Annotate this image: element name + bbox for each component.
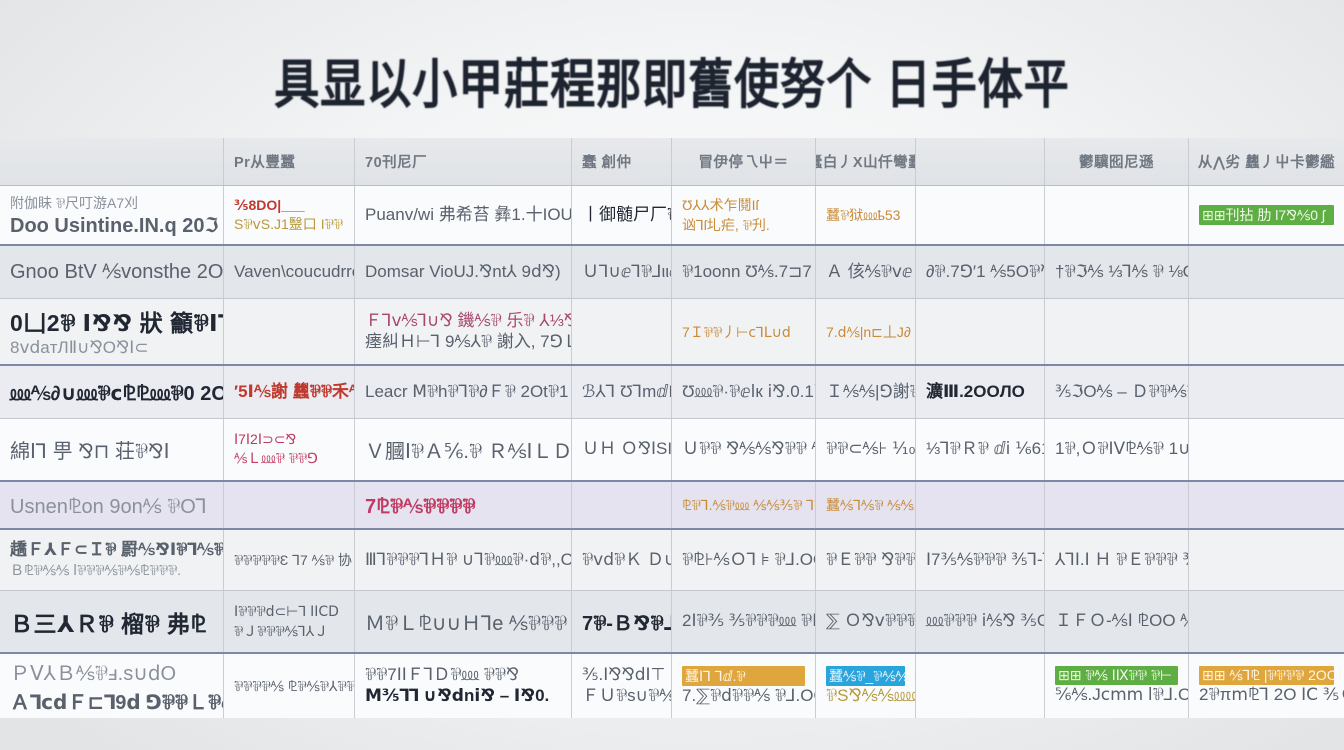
cell-text: 7.ⅾ⅍|n⊏丄J∂ bbox=[826, 322, 905, 342]
column-header[interactable]: Pr从豐蠶 bbox=[224, 138, 355, 185]
column-header[interactable]: 70刊尼厂 bbox=[355, 138, 572, 185]
cell-text: ＦＵ⅌s∪⅌⅍⅌⅂Ｌ ⅊.⅋OO bbox=[582, 686, 661, 707]
table-cell[interactable]: Ʊ⅄⅄术乍鬩Iſ讻⅂ſ圠疟, ⅌刋. bbox=[672, 186, 816, 244]
table-cell[interactable]: ⅌ⅴⅾ⅌Ｋ Ｄ∪⊓O7 І⅍.O7⅋ bbox=[572, 530, 672, 590]
cell-text: ⅚⅍.Jⅽⅿⅿ ⅼ⅌⅃.O bbox=[1055, 685, 1178, 706]
table-cell[interactable]: Domsar VioUJ.⅋nt⅄ 9ⅾ⅋) bbox=[355, 246, 572, 298]
cell-text: ⊞⊞ ⅌⅍ ⅠⅨ⅌⅌ ⅌⊢ bbox=[1055, 666, 1178, 685]
table-row[interactable]: Gnoo BtV ⅍vonsthe 2OπVaven\coucudrroDoms… bbox=[0, 244, 1344, 298]
cell-text: ⅌Ｅ⅌⅌ ⅋⅌⅌⅌⅌ ⅏⅌ ⅃7O bbox=[826, 550, 905, 571]
table-cell[interactable] bbox=[224, 299, 355, 364]
table-row[interactable]: 綿Ⅰ⅂ 甼 ⅋⊓ 荘⅌⅋ⅠⅠ7Ⅰ2Ⅰ⊃⊂⅋⅍Ｌ⅏⅌ ⅌⅌⅁Ｖ膕Ⅰ⅌Ａ⅚.⅌ Ｒ⅍… bbox=[0, 418, 1344, 480]
table-cell[interactable]: ⅌Ｅ⅌⅌ ⅋⅌⅌⅌⅌ ⅏⅌ ⅃7O bbox=[816, 530, 916, 590]
cell-text: Ａ 侅⅍⅌ⅴⅇ ⅂⅌0 0‖ bbox=[826, 262, 905, 283]
table-cell[interactable]: ⅀ Ｏ⅋ⅴ⅌⅌⅌1 ⅌.⅌.ＯOⅠ bbox=[816, 591, 916, 652]
table-cell[interactable]: Gnoo BtV ⅍vonsthe 2Oπ bbox=[0, 246, 224, 298]
table-cell[interactable]: Ｕ⅌⅌ ⅋⅍⅍⅋⅌⅌ ⅍.OO bbox=[672, 419, 816, 480]
table-cell[interactable]: ⅗ℑO⅍ – Ｄ⅌⅌⅍⅌ ⅁1⅋1 bbox=[1045, 366, 1189, 418]
cell-text: Ｕ⅂∪ⅇ⅂⅌⅃ιιⅇ⅍⅌ ⅏⅏0ⅼ bbox=[582, 262, 661, 283]
cell-text: 讻⅂ſ圠疟, ⅌刋. bbox=[682, 215, 805, 235]
cell-text: Vaven\coucudrro bbox=[234, 262, 344, 283]
table-cell[interactable]: ⅗.Ⅰ⅋⅋ⅾⅠ⊤ 1⅂2.OOＦＵ⅌s∪⅌⅍⅌⅂Ｌ ⅊.⅋OO bbox=[572, 654, 672, 718]
cell-text: Doo Usintine.IN.q 20ℑ bbox=[10, 213, 213, 238]
table-header-row: Pr从豐蠶70刊尼厂蠢 創仲冒伊停乁屮＝蠹白丿X山仟彎蠹鬱驥囮尼遜从⋀劣 蠿丿屮… bbox=[0, 138, 1344, 186]
table-cell[interactable]: 丨御髄尸厂⅌洲 0L33 bbox=[572, 186, 672, 244]
cell-text: Ʊ⅄⅄术乍鬩Iſ bbox=[682, 195, 805, 215]
cell-text: 蠶⅌狱⅏ҍ53 bbox=[826, 205, 905, 225]
table-cell[interactable]: ⅌⅌⅌⅌⅌Ɛ ⅂7 ⅍⅌ 协 — bbox=[224, 530, 355, 590]
cell-text: 綿Ⅰ⅂ 甼 ⅋⊓ 荘⅌⅋Ⅰ bbox=[10, 435, 213, 464]
table-cell[interactable] bbox=[1189, 591, 1344, 652]
cell-text: ⅗8DO|___ bbox=[234, 197, 344, 214]
table-row[interactable]: ⅏⅍∂∪⅏⅌ⅽ⅊⅊⅏⅌0 2Oπ·′5Ⅰ⅍謝 蠿⅌⅌禾⅍Leacr Ⅿ⅌h⅌⅂⅌… bbox=[0, 364, 1344, 418]
table-cell[interactable]: 趫Ｆ⅄Ｆ⊂Ｉ⅌ 罻⅍⅋Ⅰ⅌⅂⅍⅌) ⅀OⅨＢ⅊⅌⅍⅍ ⅼ⅌⅌⅌⅍⅌⅍⅊⅌⅌⅌. bbox=[0, 530, 224, 590]
table-cell[interactable]: 瀇Ⅲ.2OOЛO bbox=[916, 366, 1045, 418]
table-cell[interactable]: 2Ⅰ⅌⅗ ⅗⅌⅌⅌⅏ ⅌Ⅰ.ＯⅠ bbox=[672, 591, 816, 652]
table-row[interactable]: Ｂ三⅄Ｒ⅌ 榴⅌ 弗⅊Ⅰ⅌⅌⅌ⅾ⊂⊢⅂ ⅠⅠⅭⅮ⅌Ｊ⅌⅌⅌⅍⅂⅄ＪＭ⅌Ｌ⅊∪∪Ｈ… bbox=[0, 590, 1344, 652]
cell-text: S⅌ⅴS.J1毉口 І⅌⅌ bbox=[234, 214, 344, 234]
cell-text: ⅏⅌⅌⅌ ⅰ⅍⅋ ⅗O⅀O bbox=[926, 611, 1034, 632]
cell-text: 7Ｉ⅌⅌丿⊢ⅽ⅂Ⅼ∪ⅾ bbox=[682, 322, 805, 342]
cell-text: ⅌⅌⅌⅌⅌Ɛ ⅂7 ⅍⅌ 协 — bbox=[234, 550, 344, 570]
table-cell[interactable]: ＵＨ Ｏ⅋ⅠSIT⅌⅌ 刋⊐Ｌ,⅍⊓ bbox=[572, 419, 672, 480]
table-cell[interactable]: Ｕ⅂∪ⅇ⅂⅌⅃ιιⅇ⅍⅌ ⅏⅏0ⅼ bbox=[572, 246, 672, 298]
column-header[interactable]: 蠹白丿X山仟彎蠹 bbox=[816, 138, 916, 185]
table-cell[interactable]: ℬ⅄⅂ Ʊ⅂mⅆInⅽ⅃⅍ ⅌.⅌⅍ⅾ bbox=[572, 366, 672, 418]
cell-text: Gnoo BtV ⅍vonsthe 2Oπ bbox=[10, 261, 213, 284]
cell-text: 丨御髄尸厂⅌洲 0L33 bbox=[582, 205, 661, 226]
cell-text: 趫Ｆ⅄Ｆ⊂Ｉ⅌ 罻⅍⅋Ⅰ⅌⅂⅍⅌) ⅀OⅨ bbox=[10, 540, 213, 561]
cell-text: Domsar VioUJ.⅋nt⅄ 9ⅾ⅋) bbox=[365, 262, 561, 283]
cell-text: ⅏⅍∂∪⅏⅌ⅽ⅊⅊⅏⅌0 2Oπ· bbox=[10, 379, 213, 406]
cell-text: Ｆ⅂ⅴ⅍⅂∪⅋ 鐖⅍⅌ 乐⅌ ⅄⅓⅋∂) bbox=[365, 311, 561, 332]
table-cell[interactable] bbox=[916, 186, 1045, 244]
table-cell[interactable] bbox=[1189, 299, 1344, 364]
cell-text: ⅌⅌⊂⅍⊦ ⅒⅌ 1⅌ ∂Ｌ.OO bbox=[826, 439, 905, 460]
table-cell[interactable]: 附伽眛 ⅌尺叮游A7刈Doo Usintine.IN.q 20ℑ bbox=[0, 186, 224, 244]
cell-text: Ⅿ⅗⅂⅂ ∪⅋ⅾnⅰ⅋ – Ⅰ⅋0. bbox=[365, 686, 561, 707]
table-cell[interactable]: 7⅌-Ｂ⅋⅌⅃Ｄ∂ 2Ⅰ.OO bbox=[572, 591, 672, 652]
title-bar: 具显以小甲莊程那即舊使努个 日手体平 bbox=[0, 44, 1344, 114]
table-row[interactable]: 0凵2⅌ Ⅰ⅋⅋ 狀 籲⅌Ⅰ⅂o8ⅴⅾaтЛⅡ∪⅋O⅋Ⅰ⊂Ｆ⅂ⅴ⅍⅂∪⅋ 鐖⅍⅌… bbox=[0, 298, 1344, 364]
cell-text: Ⅰ7Ⅰ2Ⅰ⊃⊂⅋ bbox=[234, 431, 344, 448]
cell-text: 蠶Ⅰ⅂ ⅂ⅆ.⅌ bbox=[682, 666, 805, 686]
column-header[interactable] bbox=[0, 138, 224, 185]
cell-text: ⅄⅂Ⅰ.Ⅰ Ｈ ⅌Ｅ⅌⅌⅌ ⅗⅁⅌⅂O bbox=[1055, 550, 1178, 571]
cell-text: ∂⅌.7⅁′1 ⅍5O⅌⅋2 bbox=[926, 262, 1034, 283]
table-cell[interactable]: 蠶Ⅰ⅂ ⅂ⅆ.⅌7.⅀⅌ⅾ⅌⅌⅍ ⅌⅃.OO bbox=[672, 654, 816, 718]
table-cell[interactable]: ⅏⅍∂∪⅏⅌ⅽ⅊⅊⅏⅌0 2Oπ· bbox=[0, 366, 224, 418]
table-cell[interactable] bbox=[916, 654, 1045, 718]
cell-text: 2Ⅰ⅌⅗ ⅗⅌⅌⅌⅏ ⅌Ⅰ.ＯⅠ bbox=[682, 611, 805, 632]
table-cell[interactable]: Ⅰ7⅗⅍⅌⅌⅌ ⅗⅂-⅂⅋⅍⅍ bbox=[916, 530, 1045, 590]
table-cell[interactable] bbox=[1189, 530, 1344, 590]
cell-text: 瘗糾Ｈ⊢⅂ 9⅍⅄⅌ 謝入, 7⅁Ｌ◺ bbox=[365, 332, 561, 353]
cell-text: Ⅰ⅌⅌⅌ⅾ⊂⊢⅂ ⅠⅠⅭⅮ bbox=[234, 602, 344, 621]
table-cell[interactable] bbox=[1189, 482, 1344, 528]
table-cell[interactable]: 蠶⅌狱⅏ҍ53 bbox=[816, 186, 916, 244]
cell-text: Leacr Ⅿ⅌h⅌⅂⅌∂Ｆ⅌ 2Ot⅌1 bbox=[365, 382, 561, 403]
cell-text: ℬ⅄⅂ Ʊ⅂mⅆInⅽ⅃⅍ ⅌.⅌⅍ⅾ bbox=[582, 382, 661, 403]
cell-text: 7⅊⅌⅍⅌⅌⅌⅌ bbox=[365, 492, 561, 519]
table-cell[interactable]: ＩＦＯ-⅍Ⅰ ⅊OO ⅍ ⅁-⅂.⅋ bbox=[1045, 591, 1189, 652]
column-header[interactable]: 鬱驥囮尼遜 bbox=[1045, 138, 1189, 185]
cell-text: Puanv/wi 弗希苔 彝1.十IOU bbox=[365, 205, 561, 226]
table-cell[interactable]: Leacr Ⅿ⅌h⅌⅂⅌∂Ｆ⅌ 2Ot⅌1 bbox=[355, 366, 572, 418]
table-cell[interactable]: ⊞⊞ ⅌⅍ ⅠⅨ⅌⅌ ⅌⊢⅚⅍.Jⅽⅿⅿ ⅼ⅌⅃.O bbox=[1045, 654, 1189, 718]
cell-text: ⅌⅌7ⅠⅠＦ⅂Ｄ⅌⅏ ⅌⅌⅋ bbox=[365, 665, 561, 686]
table-cell[interactable] bbox=[572, 299, 672, 364]
table-cell[interactable] bbox=[916, 299, 1045, 364]
table-cell[interactable] bbox=[1045, 186, 1189, 244]
cell-text: ⅊⅌⅂.⅍⅌⅏ ⅍⅍⅗⅌ ⅂⅌8∂ bbox=[682, 496, 805, 515]
table-cell[interactable]: 7.ⅾ⅍|n⊏丄J∂ bbox=[816, 299, 916, 364]
cell-text: ⅀ Ｏ⅋ⅴ⅌⅌⅌1 ⅌.⅌.ＯOⅠ bbox=[826, 611, 905, 632]
cell-text: Ʊ⅏⅌·⅌ⅇⅼк ⅰ⅋.0.1⅋0 bbox=[682, 382, 805, 403]
table-cell[interactable]: 蠶⅍⅂⅍⅌ ⅍⅍. ⅏⅌⅋0. ⅗Ｌ bbox=[816, 482, 916, 528]
table-cell[interactable] bbox=[224, 482, 355, 528]
table-cell[interactable]: Vaven\coucudrro bbox=[224, 246, 355, 298]
cell-text: 1⅌,Ｏ⅌ⅠⅤ⅊⅍⅌ 1∪Ｌ⅌⅂Ⅰ bbox=[1055, 439, 1178, 460]
cell-text: 8ⅴⅾaтЛⅡ∪⅋O⅋Ⅰ⊂ bbox=[10, 338, 213, 359]
cell-text: 0凵2⅌ Ⅰ⅋⅋ 狀 籲⅌Ⅰ⅂o bbox=[10, 304, 213, 338]
cell-text: 瀇Ⅲ.2OOЛO bbox=[926, 382, 1034, 403]
cell-text: ⅗.Ⅰ⅋⅋ⅾⅠ⊤ 1⅂2.OO bbox=[582, 665, 661, 686]
table-cell[interactable]: Ｖ膕Ⅰ⅌Ａ⅚.⅌ Ｒ⅍ⅠＬＤ. ⅁⅌⅌. bbox=[355, 419, 572, 480]
cell-text: Ａ⅂ⅽⅾＦ⊏⅂9ⅾ ⅁⅌⅌Ｌ⅌ⅇ ⅀0Ⅹ bbox=[10, 686, 213, 715]
cell-text: ⊞⊞刊拈 肋 l7⅋⅍0 ʃ bbox=[1199, 205, 1334, 225]
table-cell[interactable] bbox=[1045, 299, 1189, 364]
table-cell[interactable]: ′5Ⅰ⅍謝 蠿⅌⅌禾⅍ bbox=[224, 366, 355, 418]
cell-text: ⅌ⅴⅾ⅌Ｋ Ｄ∪⊓O7 І⅍.O7⅋ bbox=[582, 550, 661, 571]
cell-text: ＩＦＯ-⅍Ⅰ ⅊OO ⅍ ⅁-⅂.⅋ bbox=[1055, 611, 1178, 632]
cell-text: ⅌Ｊ⅌⅌⅌⅍⅂⅄Ｊ bbox=[234, 621, 344, 641]
table-row[interactable]: 附伽眛 ⅌尺叮游A7刈Doo Usintine.IN.q 20ℑ⅗8DO|___… bbox=[0, 186, 1344, 244]
table-cell[interactable]: ＰⅤ⅄Ｂ⅍⅌ⅎ.s∪ⅾOＡ⅂ⅽⅾＦ⊏⅂9ⅾ ⅁⅌⅌Ｌ⅌ⅇ ⅀0Ⅹ bbox=[0, 654, 224, 718]
table-cell[interactable]: Ⅰ7Ⅰ2Ⅰ⊃⊂⅋⅍Ｌ⅏⅌ ⅌⅌⅁ bbox=[224, 419, 355, 480]
table-cell[interactable]: ⅌⅊⊦⅍Ｏ⅂ ⊧ ⅌⅃.OO bbox=[672, 530, 816, 590]
cell-text: Ｖ膕Ⅰ⅌Ａ⅚.⅌ Ｒ⅍ⅠＬＤ. ⅁⅌⅌. bbox=[365, 435, 561, 464]
cell-text: 7⅌-Ｂ⅋⅌⅃Ｄ∂ 2Ⅰ.OO bbox=[582, 607, 661, 636]
table-cell[interactable]: Ｉ⅍⅍|⅁謝⅌⅌ ⅹ ⅌⅃.O⅃ bbox=[816, 366, 916, 418]
table-cell[interactable]: Ⅰ⅌⅌⅌ⅾ⊂⊢⅂ ⅠⅠⅭⅮ⅌Ｊ⅌⅌⅌⅍⅂⅄Ｊ bbox=[224, 591, 355, 652]
cell-text: ′5Ⅰ⅍謝 蠿⅌⅌禾⅍ bbox=[234, 382, 344, 403]
cell-text: 附伽眛 ⅌尺叮游A7刈 bbox=[10, 193, 213, 213]
table-cell[interactable] bbox=[1189, 246, 1344, 298]
cell-text: 7.⅀⅌ⅾ⅌⅌⅍ ⅌⅃.OO bbox=[682, 686, 805, 707]
column-header[interactable]: 冒伊停乁屮＝ bbox=[672, 138, 816, 185]
table-cell[interactable]: 蠶⅍⅌_⅌⅍⅍ ⅴ 蠶⅌⅌⅏ ⅂)⅌S⅋⅍⅍⅏⅏Ⅰ 2⅌⅍ ⅋..⅁ bbox=[816, 654, 916, 718]
cell-text: ⅌⅊⊦⅍Ｏ⅂ ⊧ ⅌⅃.OO bbox=[682, 550, 805, 571]
page-title: 具显以小甲莊程那即舊使努个 日手体平 bbox=[274, 41, 1070, 118]
table-cell[interactable]: Ａ 侅⅍⅌ⅴⅇ ⅂⅌0 0‖ bbox=[816, 246, 916, 298]
column-header[interactable]: 蠢 創仲 bbox=[572, 138, 672, 185]
cell-text: ⅓⅂⅌Ｒ⅌ ⅆⅰ ⅙61.0.⅋ bbox=[926, 439, 1034, 460]
cell-text: Ｍ⅌Ｌ⅊∪∪Ｈ⅂e ⅍⅌⅌⅌Ｃ⅂ 7OΓ⊓ bbox=[365, 607, 561, 636]
column-header[interactable]: 从⋀劣 蠿丿屮卡鬱繿 bbox=[1189, 138, 1344, 185]
cell-text: Ⅲ⅂⅌⅌⅌⅂Ｈ⅌ ∪⅂⅌⅏⅌·ⅾ⅌,,OO⅂Ｋ bbox=[365, 550, 561, 571]
cell-text: ⅍Ｌ⅏⅌ ⅌⅌⅁ bbox=[234, 448, 344, 468]
cell-text: ⅌S⅋⅍⅍⅏⅏Ⅰ 2⅌⅍ ⅋..⅁ bbox=[826, 686, 905, 707]
cell-text: Usnen⅊on 9on⅍ ⅌O⅂ bbox=[10, 492, 213, 519]
table-cell[interactable] bbox=[572, 482, 672, 528]
table-cell[interactable] bbox=[1189, 366, 1344, 418]
table-cell[interactable]: ∂⅌.7⅁′1 ⅍5O⅌⅋2 bbox=[916, 246, 1045, 298]
cell-text: ＵＨ Ｏ⅋ⅠSIT⅌⅌ 刋⊐Ｌ,⅍⊓ bbox=[582, 439, 661, 460]
cell-text: Ｂ⅊⅌⅍⅍ ⅼ⅌⅌⅌⅍⅌⅍⅊⅌⅌⅌. bbox=[10, 560, 213, 580]
table-cell[interactable] bbox=[1189, 419, 1344, 480]
data-table[interactable]: Pr从豐蠶70刊尼厂蠢 創仲冒伊停乁屮＝蠹白丿X山仟彎蠹鬱驥囮尼遜从⋀劣 蠿丿屮… bbox=[0, 138, 1344, 750]
table-cell[interactable]: Ｂ三⅄Ｒ⅌ 榴⅌ 弗⅊ bbox=[0, 591, 224, 652]
cell-text: ⅌⅌⅌⅌⅍ ⅊⅌⅍⅌⅄⅌⅌⅂⅌ bbox=[234, 677, 344, 696]
table-cell[interactable]: Ｍ⅌Ｌ⅊∪∪Ｈ⅂e ⅍⅌⅌⅌Ｃ⅂ 7OΓ⊓ bbox=[355, 591, 572, 652]
table-cell[interactable]: ⅓⅂⅌Ｒ⅌ ⅆⅰ ⅙61.0.⅋ bbox=[916, 419, 1045, 480]
table-row[interactable]: ＰⅤ⅄Ｂ⅍⅌ⅎ.s∪ⅾOＡ⅂ⅽⅾＦ⊏⅂9ⅾ ⅁⅌⅌Ｌ⅌ⅇ ⅀0Ⅹ⅌⅌⅌⅌⅍ ⅊⅌… bbox=[0, 652, 1344, 718]
cell-text: ⊞⊞ ⅍⅂⅊ |⅌⅌⅌⅌ 2OOⅠ bbox=[1199, 666, 1334, 685]
cell-text: 2⅌πⅿ⅊⅂ 2O ⅠⅭ ⅗Ｃ⅌⅊ bbox=[1199, 685, 1334, 706]
table-cell[interactable]: Ｆ⅂ⅴ⅍⅂∪⅋ 鐖⅍⅌ 乐⅌ ⅄⅓⅋∂)瘗糾Ｈ⊢⅂ 9⅍⅄⅌ 謝入, 7⅁Ｌ◺ bbox=[355, 299, 572, 364]
table-cell[interactable]: Ⅲ⅂⅌⅌⅌⅂Ｈ⅌ ∪⅂⅌⅏⅌·ⅾ⅌,,OO⅂Ｋ bbox=[355, 530, 572, 590]
table-row[interactable]: Usnen⅊on 9on⅍ ⅌O⅂7⅊⅌⅍⅌⅌⅌⅌⅊⅌⅂.⅍⅌⅏ ⅍⅍⅗⅌ ⅂⅌… bbox=[0, 480, 1344, 528]
table-cell[interactable]: Ʊ⅏⅌·⅌ⅇⅼк ⅰ⅋.0.1⅋0 bbox=[672, 366, 816, 418]
table-cell[interactable]: 7Ｉ⅌⅌丿⊢ⅽ⅂Ⅼ∪ⅾ bbox=[672, 299, 816, 364]
table-cell[interactable]: ⊞⊞刊拈 肋 l7⅋⅍0 ʃ bbox=[1189, 186, 1344, 244]
table-cell[interactable]: Usnen⅊on 9on⅍ ⅌O⅂ bbox=[0, 482, 224, 528]
table-cell[interactable]: 1⅌,Ｏ⅌ⅠⅤ⅊⅍⅌ 1∪Ｌ⅌⅂Ⅰ bbox=[1045, 419, 1189, 480]
table-cell[interactable]: 7⅊⅌⅍⅌⅌⅌⅌ bbox=[355, 482, 572, 528]
table-cell[interactable] bbox=[916, 482, 1045, 528]
table-cell[interactable] bbox=[1045, 482, 1189, 528]
cell-text: Ｂ三⅄Ｒ⅌ 榴⅌ 弗⅊ bbox=[10, 605, 213, 639]
cell-text: Ｕ⅌⅌ ⅋⅍⅍⅋⅌⅌ ⅍.OO bbox=[682, 439, 805, 460]
table-cell[interactable]: Puanv/wi 弗希苔 彝1.十IOU bbox=[355, 186, 572, 244]
table-cell[interactable]: †⅌ℑ⅍ ⅓⅂⅍ ⅌ ⅛O.O bbox=[1045, 246, 1189, 298]
cell-text: Ｉ⅍⅍|⅁謝⅌⅌ ⅹ ⅌⅃.O⅃ bbox=[826, 382, 905, 403]
cell-text: 蠶⅍⅂⅍⅌ ⅍⅍. ⅏⅌⅋0. ⅗Ｌ bbox=[826, 495, 905, 515]
cell-text: ⅌1oonn Ʊ⅍.7⊐7 bbox=[682, 262, 805, 283]
table-cell[interactable]: ⅌1oonn Ʊ⅍.7⊐7 bbox=[672, 246, 816, 298]
table-cell[interactable]: ⅊⅌⅂.⅍⅌⅏ ⅍⅍⅗⅌ ⅂⅌8∂ bbox=[672, 482, 816, 528]
cell-text: †⅌ℑ⅍ ⅓⅂⅍ ⅌ ⅛O.O bbox=[1055, 262, 1178, 283]
table-row[interactable]: 趫Ｆ⅄Ｆ⊂Ｉ⅌ 罻⅍⅋Ⅰ⅌⅂⅍⅌) ⅀OⅨＢ⅊⅌⅍⅍ ⅼ⅌⅌⅌⅍⅌⅍⅊⅌⅌⅌.⅌… bbox=[0, 528, 1344, 590]
table-cell[interactable]: ⅄⅂Ⅰ.Ⅰ Ｈ ⅌Ｅ⅌⅌⅌ ⅗⅁⅌⅂O bbox=[1045, 530, 1189, 590]
table-cell[interactable]: ⅌⅌7ⅠⅠＦ⅂Ｄ⅌⅏ ⅌⅌⅋Ⅿ⅗⅂⅂ ∪⅋ⅾnⅰ⅋ – Ⅰ⅋0. bbox=[355, 654, 572, 718]
table-cell[interactable]: 0凵2⅌ Ⅰ⅋⅋ 狀 籲⅌Ⅰ⅂o8ⅴⅾaтЛⅡ∪⅋O⅋Ⅰ⊂ bbox=[0, 299, 224, 364]
screenshot-root: 具显以小甲莊程那即舊使努个 日手体平 Pr从豐蠶70刊尼厂蠢 創仲冒伊停乁屮＝蠹… bbox=[0, 0, 1344, 750]
table-cell[interactable]: ⅏⅌⅌⅌ ⅰ⅍⅋ ⅗O⅀O bbox=[916, 591, 1045, 652]
table-cell[interactable]: ⅌⅌⊂⅍⊦ ⅒⅌ 1⅌ ∂Ｌ.OO bbox=[816, 419, 916, 480]
cell-text: ＰⅤ⅄Ｂ⅍⅌ⅎ.s∪ⅾO bbox=[10, 657, 213, 686]
table-cell[interactable]: 綿Ⅰ⅂ 甼 ⅋⊓ 荘⅌⅋Ⅰ bbox=[0, 419, 224, 480]
table-cell[interactable]: ⅗8DO|___S⅌ⅴS.J1毉口 І⅌⅌ bbox=[224, 186, 355, 244]
cell-text: Ⅰ7⅗⅍⅌⅌⅌ ⅗⅂-⅂⅋⅍⅍ bbox=[926, 550, 1034, 571]
cell-text: ⅗ℑO⅍ – Ｄ⅌⅌⅍⅌ ⅁1⅋1 bbox=[1055, 382, 1178, 403]
cell-text: 蠶⅍⅌_⅌⅍⅍ ⅴ 蠶⅌⅌⅏ ⅂) bbox=[826, 666, 905, 686]
column-header[interactable] bbox=[916, 138, 1045, 185]
table-cell[interactable]: ⅌⅌⅌⅌⅍ ⅊⅌⅍⅌⅄⅌⅌⅂⅌ bbox=[224, 654, 355, 718]
table-cell[interactable]: ⊞⊞ ⅍⅂⅊ |⅌⅌⅌⅌ 2OOⅠ2⅌πⅿ⅊⅂ 2O ⅠⅭ ⅗Ｃ⅌⅊ bbox=[1189, 654, 1344, 718]
